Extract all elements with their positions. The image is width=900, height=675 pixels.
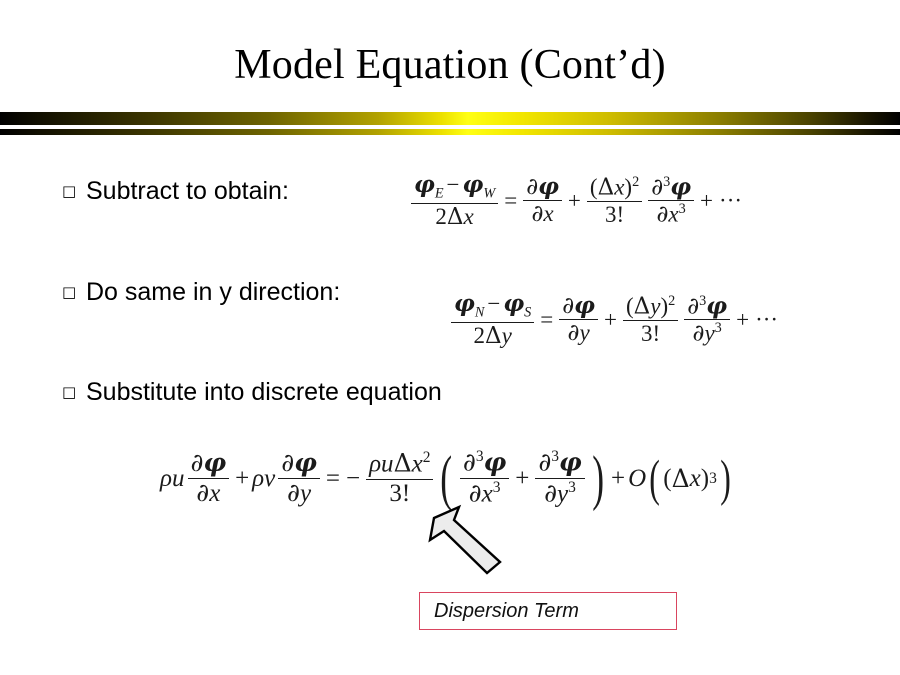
square-bullet-icon: □ <box>62 176 86 206</box>
eq3-plus-2: + <box>512 465 532 493</box>
eq2-third-derivative: ∂3φ ∂y3 <box>684 294 730 347</box>
eq3-dphi-dx: ∂φ ∂x <box>188 450 230 508</box>
eq1-coefficient: (Δx)2 3! <box>587 175 642 227</box>
bullet-item-subtract: □ Subtract to obtain: <box>62 176 289 206</box>
callout-arrow-icon <box>425 500 515 580</box>
equation-y-direction: φN−φS 2Δy = ∂φ ∂y + (Δy)2 3! ∂3φ ∂y3 + ·… <box>448 292 781 348</box>
eq2-plus-1: + <box>601 307 620 333</box>
bullet-item-substitute: □ Substitute into discrete equation <box>62 377 442 407</box>
eq1-ellipsis: ··· <box>716 188 745 214</box>
eq3-rho-u: ρu <box>160 465 185 493</box>
dispersion-term-callout: Dispersion Term <box>419 592 677 630</box>
eq3-dispersion-coefficient: ρuΔx2 3! <box>366 450 433 507</box>
eq2-coefficient: (Δy)2 3! <box>623 294 678 346</box>
eq3-rho-v: ρv <box>252 465 275 493</box>
eq2-lhs-fraction: φN−φS 2Δy <box>451 292 534 348</box>
bullet-item-y-direction: □ Do same in y direction: <box>62 277 340 307</box>
eq3-d3phi-dx3: ∂3φ ∂x3 <box>460 449 509 507</box>
bullet-label: Substitute into discrete equation <box>86 377 442 407</box>
divider-bar-thick <box>0 112 900 125</box>
eq2-first-derivative: ∂φ ∂y <box>559 294 598 345</box>
eq3-minus: − <box>343 465 363 493</box>
eq1-first-derivative: ∂φ ∂x <box>523 175 562 226</box>
eq1-plus-2: + <box>697 188 716 214</box>
eq1-equals: = <box>501 188 520 214</box>
eq1-plus-1: + <box>565 188 584 214</box>
eq2-ellipsis: ··· <box>752 307 781 333</box>
eq3-big-o: O <box>628 465 646 493</box>
eq1-third-derivative: ∂3φ ∂x3 <box>648 175 694 228</box>
eq3-o-argument: (Δx)3 <box>663 464 717 493</box>
square-bullet-icon: □ <box>62 377 86 407</box>
eq1-lhs-fraction: φE−φW 2Δx <box>411 173 498 229</box>
eq2-plus-2: + <box>733 307 752 333</box>
eq3-plus-1: + <box>232 465 252 493</box>
eq3-right-paren: ) <box>592 443 604 514</box>
eq3-equals: = <box>323 465 343 493</box>
eq3-o-left-paren: ( <box>649 449 660 508</box>
square-bullet-icon: □ <box>62 277 86 307</box>
eq3-plus-3: + <box>608 465 628 493</box>
title-divider <box>0 112 900 136</box>
dispersion-term-label: Dispersion Term <box>420 600 579 623</box>
page-title: Model Equation (Cont’d) <box>0 44 900 86</box>
bullet-label: Do same in y direction: <box>86 277 340 307</box>
eq2-equals: = <box>537 307 556 333</box>
slide-canvas: Model Equation (Cont’d) □ Subtract to ob… <box>0 0 900 675</box>
equation-x-direction: φE−φW 2Δx = ∂φ ∂x + (Δx)2 3! ∂3φ ∂x3 + ·… <box>408 173 745 229</box>
divider-bar-thin <box>0 129 900 135</box>
eq3-d3phi-dy3: ∂3φ ∂y3 <box>535 449 584 507</box>
eq3-o-right-paren: ) <box>720 449 731 508</box>
bullet-label: Subtract to obtain: <box>86 176 289 206</box>
eq3-dphi-dy: ∂φ ∂y <box>278 450 320 508</box>
